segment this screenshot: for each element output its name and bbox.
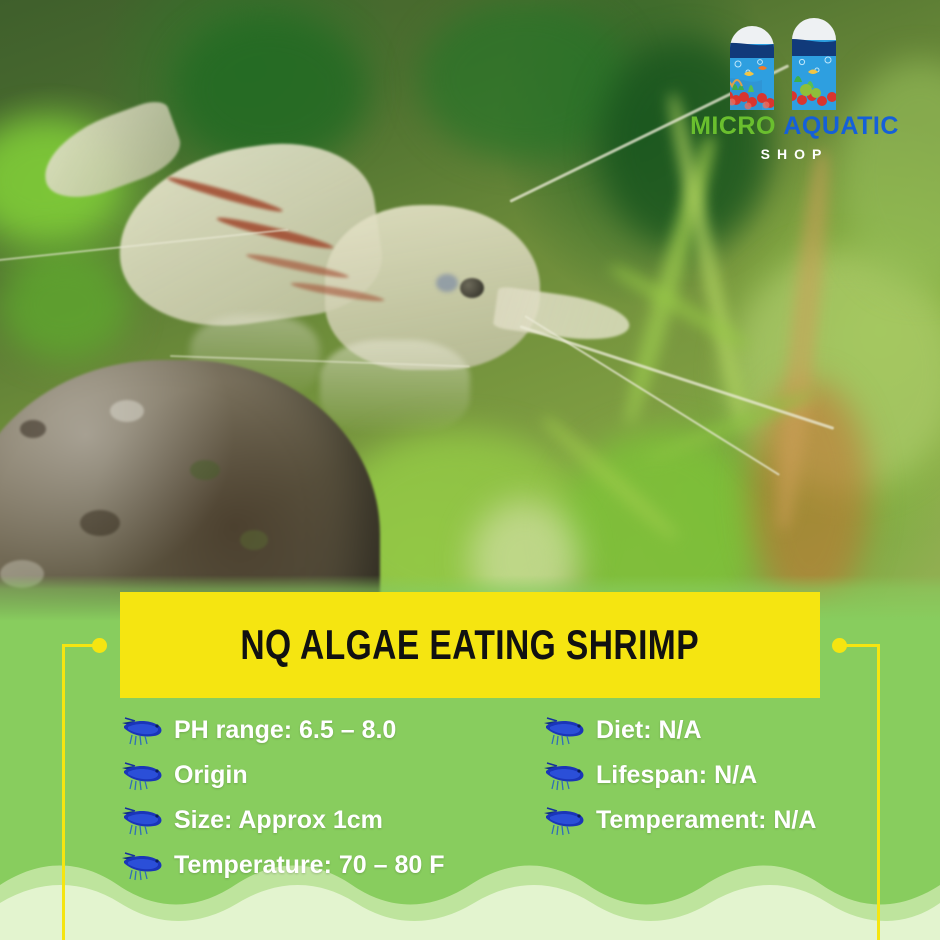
spec-row: Temperature: 70 – 80 F xyxy=(118,843,444,888)
product-info-card: NQ ALGAE EATING SHRIMP PH range: 6.5 – 8… xyxy=(0,0,940,940)
shrimp-legs xyxy=(320,340,470,435)
page-title: NQ ALGAE EATING SHRIMP xyxy=(241,621,700,669)
spec-row: Diet: N/A xyxy=(540,708,816,753)
brand-wordmark: MICRO AQUATIC xyxy=(687,114,902,139)
spec-label: Origin xyxy=(174,761,248,790)
connector-dot-left-icon xyxy=(92,638,107,653)
spec-row: Temperament: N/A xyxy=(540,798,816,843)
spec-row: Size: Approx 1cm xyxy=(118,798,444,843)
title-banner: NQ ALGAE EATING SHRIMP xyxy=(120,592,820,698)
rock-speck xyxy=(190,460,220,480)
blue-shrimp-icon xyxy=(540,759,590,793)
spec-row: PH range: 6.5 – 8.0 xyxy=(118,708,444,753)
connector-line-right-vertical xyxy=(877,644,880,940)
spec-row: Lifespan: N/A xyxy=(540,753,816,798)
connector-line-left-vertical xyxy=(62,644,65,940)
brand-name-part2: AQUATIC xyxy=(783,112,899,140)
rock-speck xyxy=(240,530,268,550)
shrimp-eye-highlight xyxy=(436,274,458,292)
rock-speck xyxy=(20,420,46,438)
blue-shrimp-icon xyxy=(118,759,168,793)
rock-speck xyxy=(80,510,120,536)
rock-speck xyxy=(110,400,144,422)
spec-column-left: PH range: 6.5 – 8.0 Origin xyxy=(118,708,444,888)
brand-name-part1: MICRO xyxy=(690,112,776,140)
blue-shrimp-icon xyxy=(540,714,590,748)
spec-column-right: Diet: N/A Lifespan: N/A xyxy=(540,708,816,843)
spec-label: Diet: N/A xyxy=(596,716,702,745)
spec-label: PH range: 6.5 – 8.0 xyxy=(174,716,396,745)
connector-dot-right-icon xyxy=(832,638,847,653)
spec-label: Temperament: N/A xyxy=(596,806,816,835)
blue-shrimp-icon xyxy=(118,804,168,838)
spec-label: Temperature: 70 – 80 F xyxy=(174,851,444,880)
blue-shrimp-icon xyxy=(118,714,168,748)
aquarium-m-logo-icon xyxy=(722,18,868,110)
spec-label: Size: Approx 1cm xyxy=(174,806,383,835)
brand-tagline: SHOP xyxy=(687,146,902,162)
shrimp-eye xyxy=(460,278,484,298)
spec-label: Lifespan: N/A xyxy=(596,761,757,790)
blue-shrimp-icon xyxy=(118,849,168,883)
brand-logo: MICRO AQUATIC SHOP xyxy=(687,18,902,178)
blue-shrimp-icon xyxy=(540,804,590,838)
spec-row: Origin xyxy=(118,753,444,798)
